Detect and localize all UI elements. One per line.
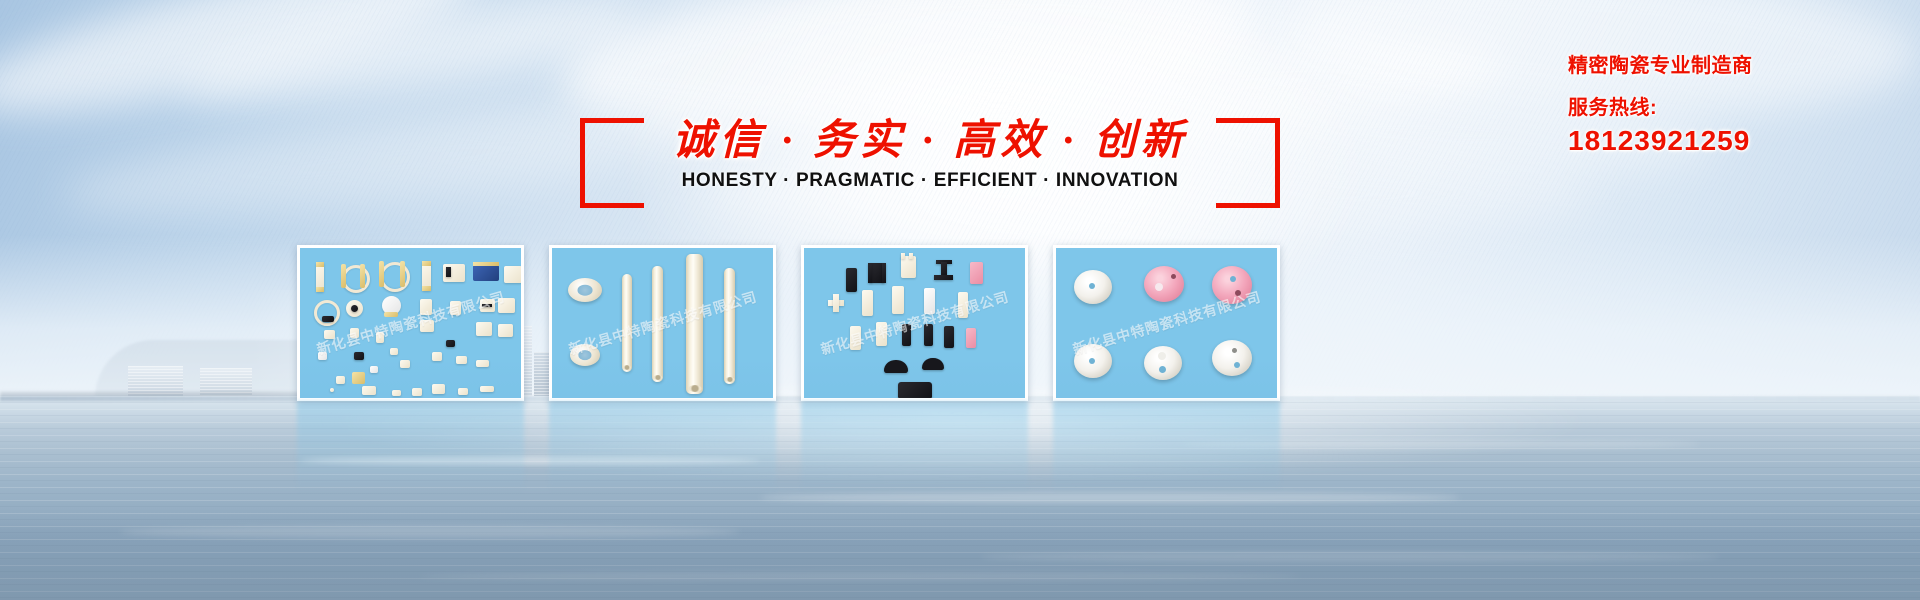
product-card[interactable]: 新化县中特陶瓷科技有限公司	[801, 245, 1028, 401]
ripple-line	[760, 492, 1460, 503]
company-tagline: 精密陶瓷专业制造商	[1568, 52, 1908, 80]
card-reflection	[297, 401, 524, 493]
product-card[interactable]: 新化县中特陶瓷科技有限公司	[549, 245, 776, 401]
product-photo: 新化县中特陶瓷科技有限公司	[552, 248, 773, 398]
slogan-english: HONESTY · PRAGMATIC · EFFICIENT · INNOVA…	[580, 170, 1280, 192]
product-photo: 新化县中特陶瓷科技有限公司	[804, 248, 1025, 398]
hero-banner: 诚信 · 务实 · 高效 · 创新 HONESTY · PRAGMATIC · …	[0, 0, 1920, 600]
product-card-strip: 新化县中特陶瓷科技有限公司 新化县中特	[297, 245, 1277, 410]
hotline-label: 服务热线:	[1568, 94, 1908, 122]
contact-block: 精密陶瓷专业制造商 服务热线: 18123921259	[1568, 52, 1908, 158]
slogan-block: 诚信 · 务实 · 高效 · 创新 HONESTY · PRAGMATIC · …	[580, 118, 1280, 208]
card-reflection	[549, 401, 776, 493]
card-reflection	[1053, 401, 1280, 493]
product-photo: 新化县中特陶瓷科技有限公司	[300, 248, 521, 398]
card-reflection	[801, 401, 1028, 493]
product-card[interactable]: 新化县中特陶瓷科技有限公司	[1053, 245, 1280, 401]
photo-watermark: 新化县中特陶瓷科技有限公司	[818, 287, 1011, 360]
slogan-chinese: 诚信 · 务实 · 高效 · 创新	[580, 112, 1280, 170]
water-shadow-overlay	[0, 508, 1920, 600]
product-photo: 新化县中特陶瓷科技有限公司	[1056, 248, 1277, 398]
product-card[interactable]: 新化县中特陶瓷科技有限公司	[297, 245, 524, 401]
hotline-number[interactable]: 18123921259	[1568, 124, 1908, 158]
